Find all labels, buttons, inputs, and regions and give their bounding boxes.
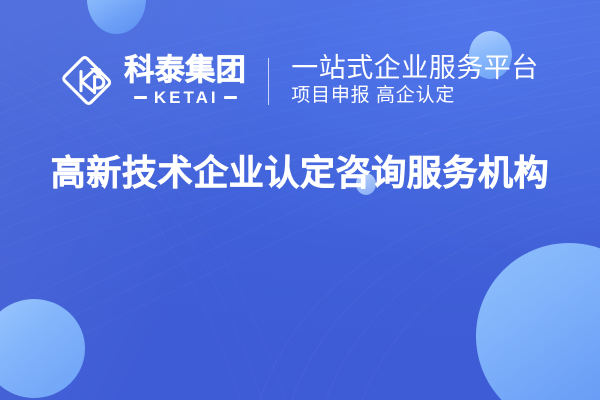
page-title: 高新技术企业认定咨询服务机构 — [0, 155, 600, 194]
brand-name-latin: KETAI — [152, 89, 219, 106]
banner-header-row: 科泰集团 KETAI 一站式企业服务平台 项目申报 高企认定 — [0, 42, 600, 120]
promo-banner: 科泰集团 KETAI 一站式企业服务平台 项目申报 高企认定 高新技术企业认定咨… — [0, 0, 600, 400]
tagline-main: 一站式企业服务平台 — [291, 54, 539, 84]
brand-lockup: 科泰集团 KETAI — [61, 55, 268, 107]
tagline-sub: 项目申报 高企认定 — [291, 85, 539, 108]
brand-latin-row: KETAI — [134, 89, 237, 106]
brand-name-cn: 科泰集团 — [124, 56, 246, 87]
brand-dash-right-icon — [224, 96, 237, 99]
tagline-block: 一站式企业服务平台 项目申报 高企认定 — [269, 54, 539, 108]
brand-wordmark: 科泰集团 KETAI — [124, 56, 246, 107]
ketai-diamond-kp-logo-icon — [61, 55, 113, 107]
brand-dash-left-icon — [134, 96, 147, 99]
